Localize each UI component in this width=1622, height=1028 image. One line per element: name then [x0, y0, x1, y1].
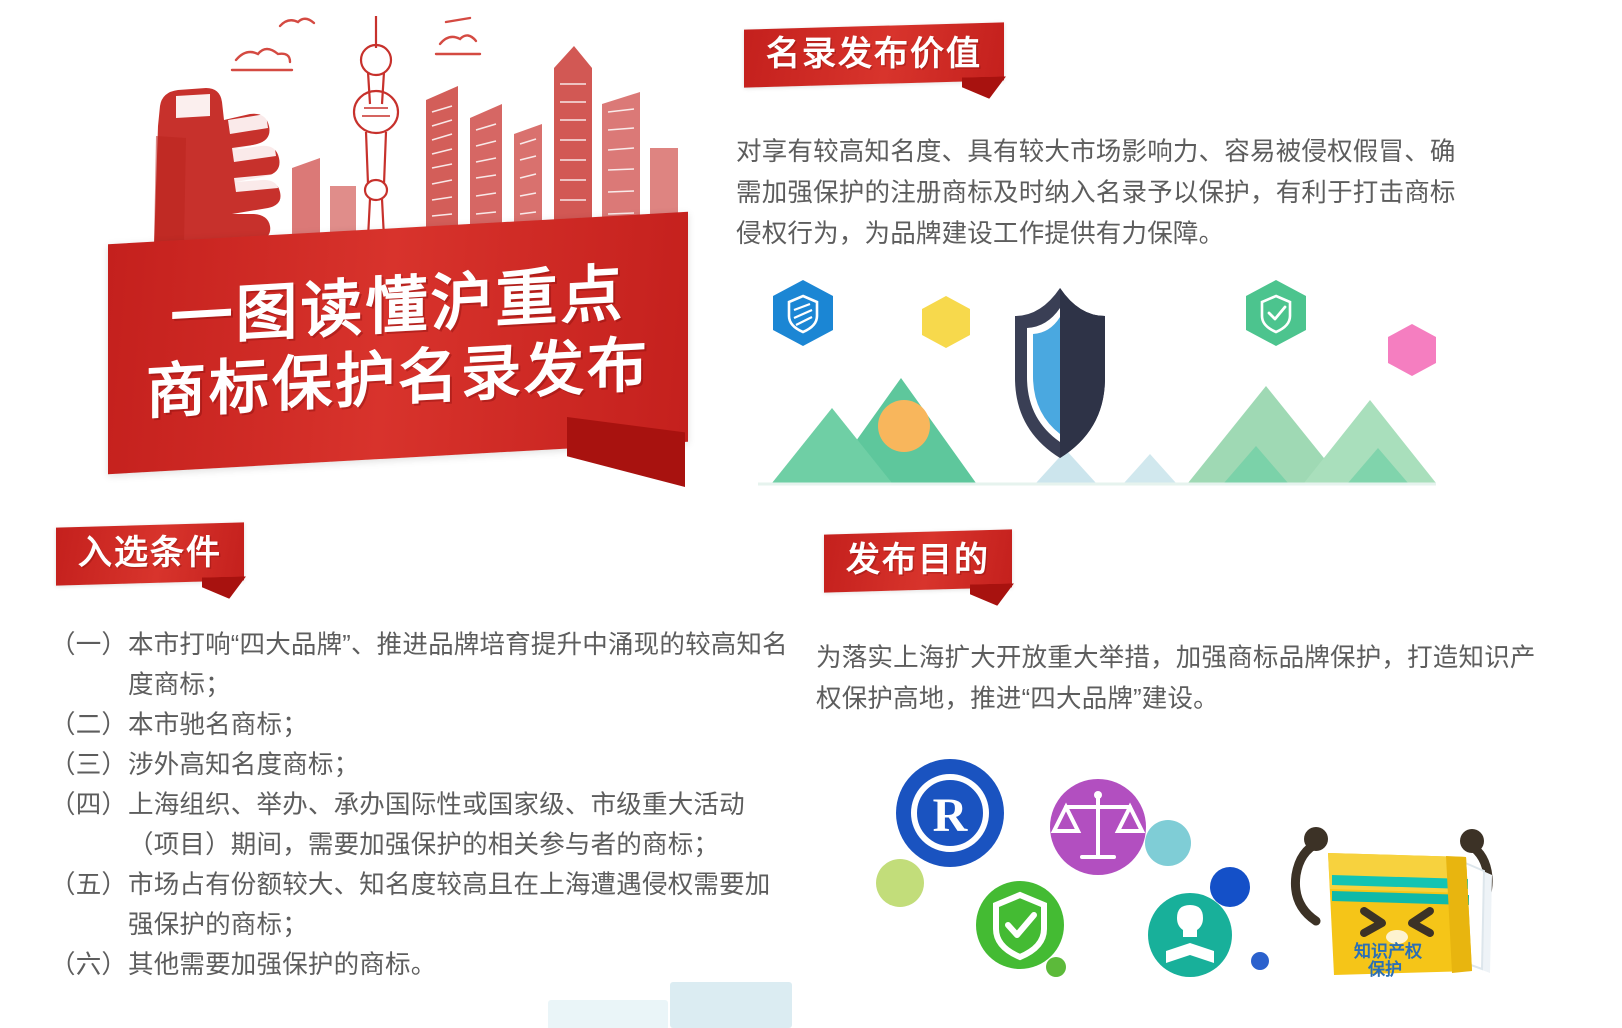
conditions-heading-label: 入选条件: [78, 536, 222, 570]
dot-green-icon: [1046, 957, 1066, 977]
purpose-heading-label: 发布目的: [846, 543, 990, 577]
book-cover-text-line-2: 保护: [1367, 959, 1402, 979]
list-item-text: 其他需要加强保护的商标。: [128, 945, 795, 985]
tag-fold-icon: [962, 76, 1006, 99]
decorative-shape-bottom-right: [670, 982, 792, 1028]
list-item-number: （三）: [50, 745, 128, 785]
purpose-heading-tag: 发布目的: [824, 529, 1012, 592]
red-fist-shanghai-skyline-icon: [140, 8, 700, 248]
main-shield-icon: [1015, 288, 1105, 458]
list-item-number: （六）: [50, 945, 128, 985]
dot-green-light-icon: [876, 859, 924, 907]
list-item-number: （五）: [50, 865, 128, 905]
list-item-number: （四）: [50, 785, 128, 825]
list-item: （四） 上海组织、举办、承办国际性或国家级、市级重大活动（项目）期间，需要加强保…: [50, 785, 795, 865]
value-heading-tag: 名录发布价值: [744, 22, 1004, 87]
tag-fold-icon: [202, 576, 246, 599]
list-item: （二） 本市驰名商标；: [50, 705, 795, 745]
ip-icons-and-book-illustration: R: [860, 735, 1560, 985]
list-item-text: 本市打响“四大品牌”、推进品牌培育提升中涌现的较高知名度商标；: [128, 625, 795, 705]
value-paragraph: 对享有较高知名度、具有较大市场影响力、容易被侵权假冒、确需加强保护的注册商标及时…: [736, 132, 1466, 255]
registered-trademark-icon: R: [896, 759, 1004, 867]
dot-blue-icon: [1210, 867, 1250, 907]
purpose-heading-badge: 发布目的: [824, 532, 1012, 590]
list-item: （三） 涉外高知名度商标；: [50, 745, 795, 785]
tag-fold-icon: [970, 583, 1014, 606]
list-item-text: 本市驰名商标；: [128, 705, 795, 745]
dot-teal-icon: [1145, 820, 1191, 866]
shield-mountains-illustration: [736, 258, 1446, 493]
main-title: 一图读懂沪重点 商标保护名录发布: [108, 220, 688, 466]
hexagon-badge-shield-blue-icon: [773, 280, 833, 346]
list-item-number: （一）: [50, 625, 128, 665]
book-cover-text-line-1: 知识产权: [1353, 941, 1423, 961]
list-item-text: 市场占有份额较大、知名度较高且在上海遭遇侵权需要加强保护的商标；: [128, 865, 795, 945]
purpose-paragraph-text: 为落实上海扩大开放重大举措，加强商标品牌保护，打造知识产权保护高地，推进“四大品…: [816, 638, 1546, 720]
hero-section: 一图读懂沪重点 商标保护名录发布: [0, 0, 730, 510]
list-item: （一） 本市打响“四大品牌”、推进品牌培育提升中涌现的较高知名度商标；: [50, 625, 795, 705]
list-item: （五） 市场占有份额较大、知名度较高且在上海遭遇侵权需要加强保护的商标；: [50, 865, 795, 945]
infographic-page: 一图读懂沪重点 商标保护名录发布 名录发布价值 对享有较高知名度、具有较大市场影…: [0, 0, 1622, 1028]
svg-text:R: R: [933, 789, 969, 842]
hexagon-badge-shield-check-green-icon: [1246, 280, 1306, 346]
lightbulb-book-icon: [1148, 893, 1232, 977]
shield-check-icon: [976, 881, 1064, 969]
list-item-text: 上海组织、举办、承办国际性或国家级、市级重大活动（项目）期间，需要加强保护的相关…: [128, 785, 795, 865]
dot-blue-small-icon: [1251, 952, 1269, 970]
scales-of-justice-icon: [1050, 779, 1146, 875]
list-item-text: 涉外高知名度商标；: [128, 745, 795, 785]
book-character-icon: 知识产权 保护: [1295, 827, 1492, 979]
hexagon-badge-pink-icon: [1388, 324, 1436, 376]
decorative-shape-bottom-left: [548, 1000, 668, 1028]
hexagon-badge-yellow-icon: [922, 296, 970, 348]
conditions-list: （一） 本市打响“四大品牌”、推进品牌培育提升中涌现的较高知名度商标； （二） …: [50, 625, 795, 985]
value-paragraph-text: 对享有较高知名度、具有较大市场影响力、容易被侵权假冒、确需加强保护的注册商标及时…: [736, 132, 1466, 255]
purpose-paragraph: 为落实上海扩大开放重大举措，加强商标品牌保护，打造知识产权保护高地，推进“四大品…: [816, 638, 1546, 720]
list-item: （六） 其他需要加强保护的商标。: [50, 945, 795, 985]
conditions-heading-badge: 入选条件: [56, 525, 244, 583]
value-heading-label: 名录发布价值: [766, 37, 982, 71]
value-heading-badge: 名录发布价值: [744, 26, 1004, 84]
list-item-number: （二）: [50, 705, 128, 745]
conditions-heading-tag: 入选条件: [56, 522, 244, 585]
